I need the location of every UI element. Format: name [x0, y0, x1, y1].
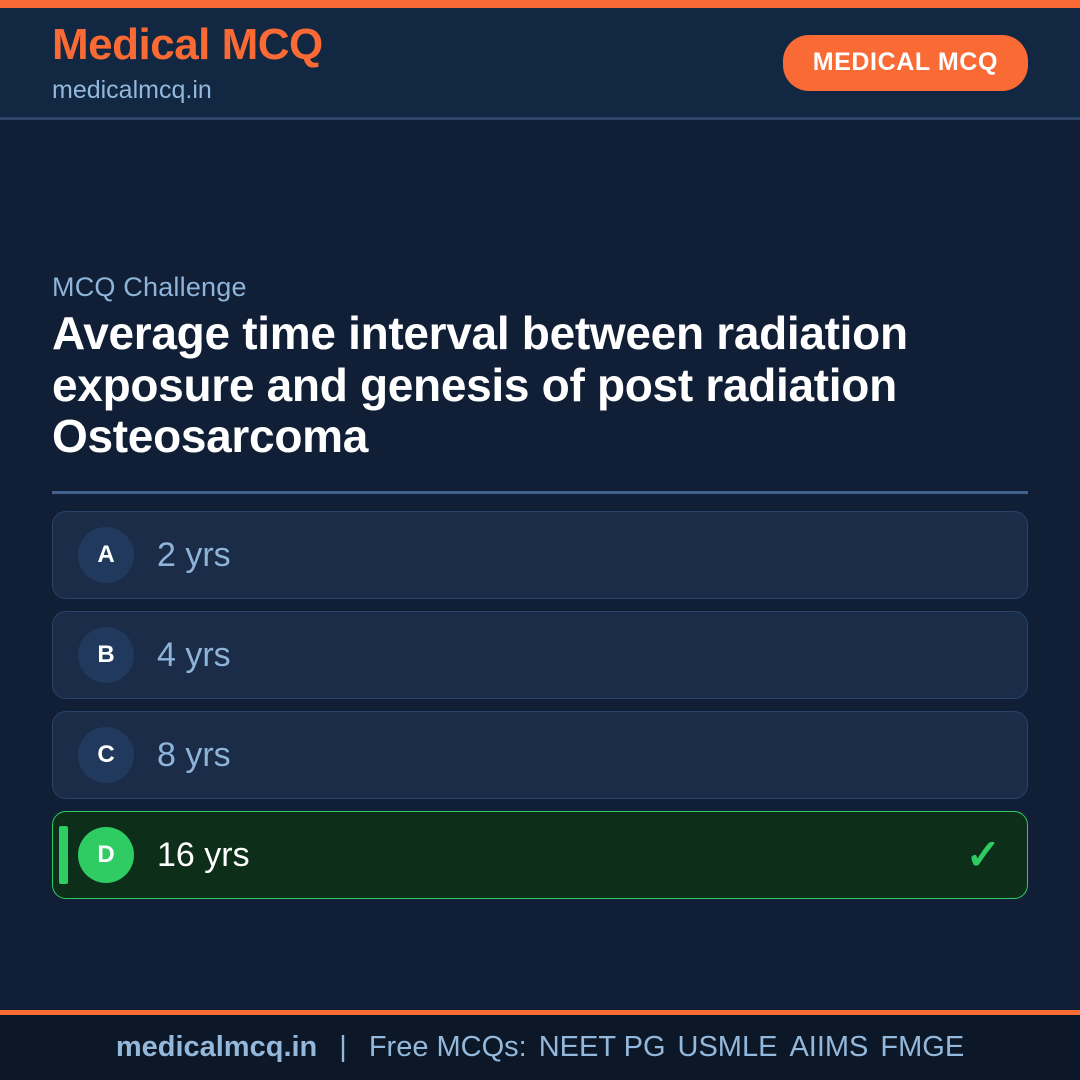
footer-exam-tag: AIIMS — [789, 1031, 868, 1063]
check-icon: ✓ — [966, 834, 1001, 876]
header: Medical MCQ medicalmcq.in MEDICAL MCQ — [0, 8, 1080, 120]
option-text: 2 yrs — [157, 538, 231, 572]
top-accent-bar — [0, 0, 1080, 8]
option-row[interactable]: B4 yrs — [52, 611, 1028, 699]
footer-exams: NEET PGUSMLEAIIMSFMGE — [539, 1031, 964, 1064]
option-text: 4 yrs — [157, 638, 231, 672]
option-row[interactable]: A2 yrs — [52, 511, 1028, 599]
footer-exam-tag: FMGE — [880, 1031, 964, 1063]
footer-exam-tag: NEET PG — [539, 1031, 666, 1063]
option-letter-badge: A — [78, 527, 134, 583]
brand-url: medicalmcq.in — [52, 78, 323, 103]
option-letter-badge: C — [78, 727, 134, 783]
option-row[interactable]: C8 yrs — [52, 711, 1028, 799]
footer-separator: | — [339, 1031, 347, 1064]
option-letter-badge: D — [78, 827, 134, 883]
option-row[interactable]: D16 yrs✓ — [52, 811, 1028, 899]
kicker-label: MCQ Challenge — [52, 272, 247, 303]
footer-site: medicalmcq.in — [116, 1031, 317, 1064]
correct-accent-bar — [59, 826, 68, 884]
option-text: 8 yrs — [157, 738, 231, 772]
brand-title: Medical MCQ — [52, 23, 323, 67]
title-divider — [52, 491, 1028, 494]
brand-pill-badge: MEDICAL MCQ — [783, 35, 1028, 91]
option-letter-badge: B — [78, 627, 134, 683]
mcq-card: Medical MCQ medicalmcq.in MEDICAL MCQ MC… — [0, 0, 1080, 1080]
options-list: A2 yrsB4 yrsC8 yrsD16 yrs✓ — [52, 511, 1028, 899]
footer-exam-tag: USMLE — [678, 1031, 778, 1063]
question-text: Average time interval between radiation … — [52, 308, 1004, 463]
brand-block: Medical MCQ medicalmcq.in — [52, 23, 323, 103]
footer-label: Free MCQs: — [369, 1031, 527, 1064]
main-content: MCQ Challenge Average time interval betw… — [0, 120, 1080, 1010]
option-text: 16 yrs — [157, 838, 250, 872]
footer: medicalmcq.in | Free MCQs: NEET PGUSMLEA… — [0, 1015, 1080, 1080]
